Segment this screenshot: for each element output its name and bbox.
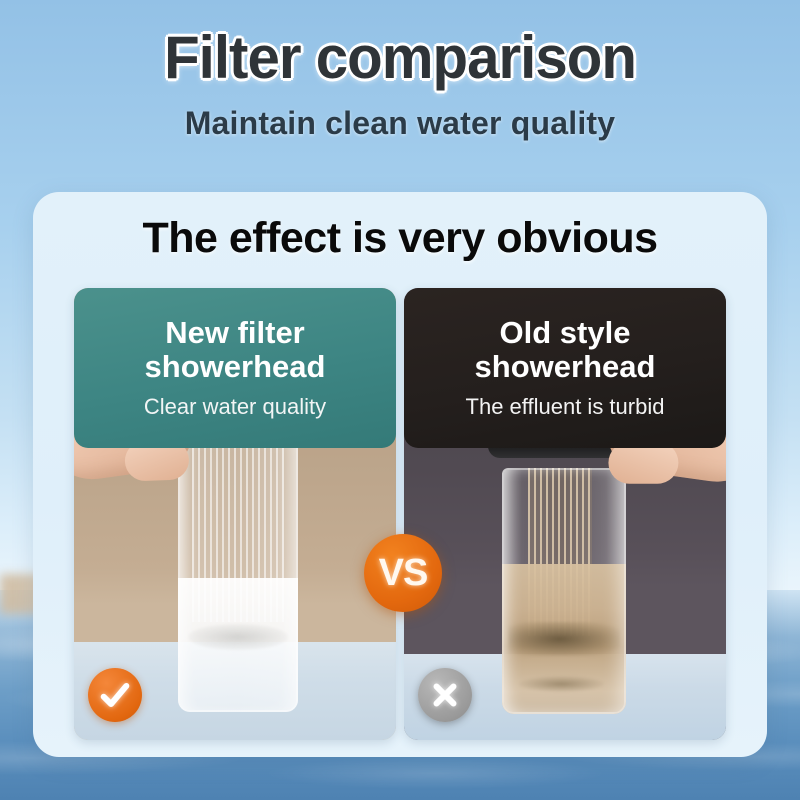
title-line-1: Old style (500, 315, 631, 350)
check-icon (88, 668, 142, 722)
sediment-layer (508, 622, 620, 656)
water-foam (188, 624, 289, 650)
panel-old-style[interactable]: Old style showerhead The effluent is tur… (404, 288, 726, 740)
x-icon (418, 668, 472, 722)
water-stream (192, 440, 284, 622)
water-level (502, 564, 626, 714)
water-level (178, 578, 298, 712)
panel-title-new-filter: New filter showerhead (145, 316, 326, 383)
panel-subtitle-old-style: The effluent is turbid (466, 394, 665, 420)
comparison-card: The effect is very obvious (33, 192, 767, 757)
poster-canvas: Filter comparison Maintain clean water q… (0, 0, 800, 800)
poster-header: Filter comparison Maintain clean water q… (0, 26, 800, 142)
panel-subtitle-new-filter: Clear water quality (144, 394, 326, 420)
title-line-2: showerhead (145, 349, 326, 384)
bottle-glass (178, 440, 298, 712)
thumb (608, 442, 678, 484)
comparison-panels: New filter showerhead Clear water qualit… (74, 288, 726, 740)
panel-title-old-style: Old style showerhead (475, 316, 656, 383)
vs-badge: VS (364, 534, 442, 612)
water-stream (528, 468, 592, 636)
card-headline: The effect is very obvious (33, 192, 767, 263)
page-title: Filter comparison (12, 26, 788, 89)
title-line-2: showerhead (475, 349, 656, 384)
sediment-bottom (519, 676, 603, 692)
bottle-turbid-water (502, 468, 626, 714)
page-subtitle: Maintain clean water quality (0, 105, 800, 142)
bottle-clear-water (178, 440, 298, 712)
panel-new-filter[interactable]: New filter showerhead Clear water qualit… (74, 288, 396, 740)
label-block-old-style: Old style showerhead The effluent is tur… (404, 288, 726, 448)
label-block-new-filter: New filter showerhead Clear water qualit… (74, 288, 396, 448)
bottle-glass (502, 468, 626, 714)
title-line-1: New filter (165, 315, 305, 350)
